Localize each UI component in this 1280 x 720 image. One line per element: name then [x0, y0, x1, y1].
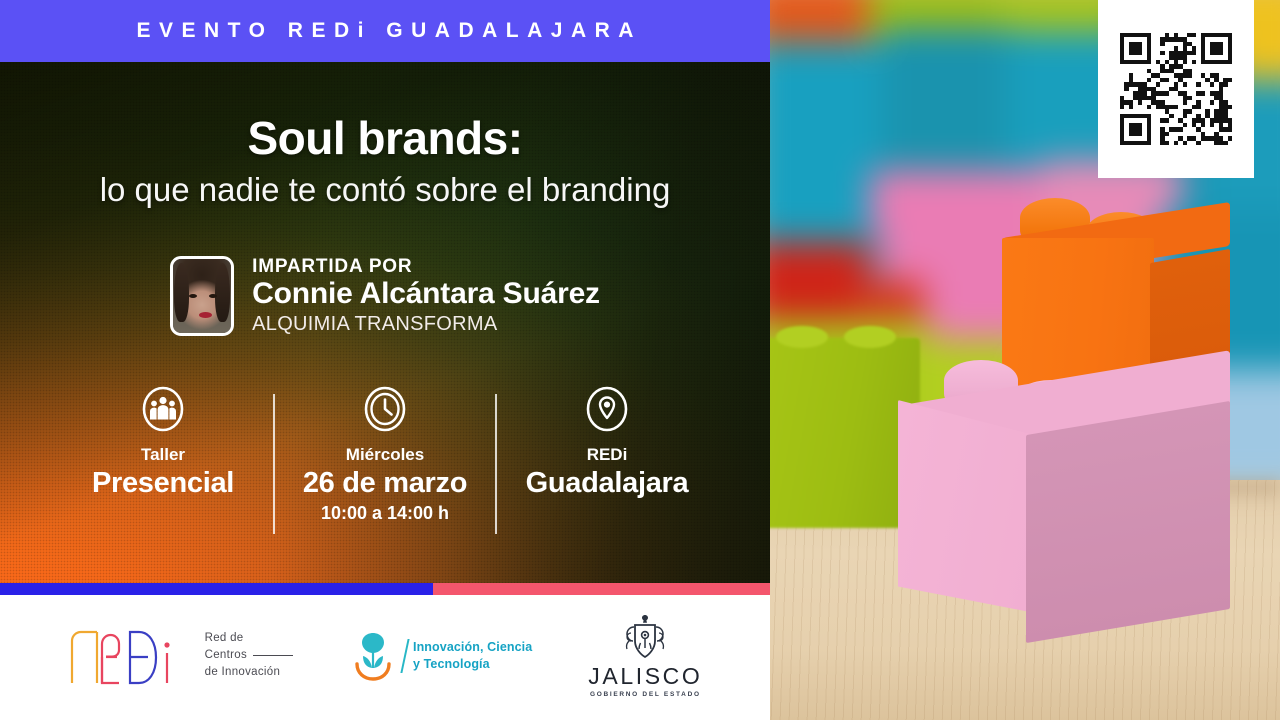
- jalisco-logo: JALISCO GOBIERNO DEL ESTADO: [588, 613, 702, 699]
- info-column-location: REDi Guadalajara: [497, 386, 717, 504]
- redi-line-1: Red de: [205, 630, 293, 647]
- avatar-hair-left: [174, 263, 189, 322]
- info-extra: 10:00 a 14:00 h: [321, 504, 449, 524]
- redi-rule: [253, 655, 293, 657]
- jalisco-coat-of-arms-icon: [615, 613, 675, 663]
- qr-code-card[interactable]: [1098, 0, 1254, 178]
- hero-section: Soul brands: lo que nadie te contó sobre…: [0, 62, 770, 583]
- info-label: REDi: [587, 446, 628, 465]
- people-group-icon: [141, 386, 185, 432]
- jalisco-wordmark: JALISCO: [588, 665, 702, 688]
- innovacion-ciencia-tecnologia-logo: Innovación, Ciencia y Tecnología: [349, 630, 532, 682]
- redi-logo-text: Red de Centros de Innovación: [205, 630, 293, 680]
- pink-brick-front: [898, 400, 1030, 612]
- info-column-modality: Taller Presencial: [53, 386, 273, 504]
- speaker-organization: ALQUIMIA TRANSFORMA: [252, 312, 600, 336]
- avatar: [170, 256, 234, 336]
- event-band-text: EVENTO REDi GUADALAJARA: [128, 19, 642, 43]
- page-subtitle: lo que nadie te contó sobre el branding: [100, 173, 671, 208]
- ict-divider-slash: [400, 639, 409, 673]
- info-label: Miércoles: [346, 446, 424, 465]
- pink-lego-brick: [898, 360, 1230, 628]
- info-value: Presencial: [92, 467, 234, 499]
- lego-bricks-photo: [770, 0, 1280, 720]
- info-column-date: Miércoles 26 de marzo 10:00 a 14:00 h: [275, 386, 495, 524]
- ict-logo-text: Innovación, Ciencia y Tecnología: [413, 639, 532, 672]
- photo-canvas: [770, 0, 1280, 720]
- clock-icon: [363, 386, 407, 432]
- speaker-name: Connie Alcántara Suárez: [252, 277, 600, 311]
- qr-code[interactable]: [1120, 33, 1232, 145]
- accent-bar-blue: [0, 583, 433, 595]
- ict-line-1: Innovación, Ciencia: [413, 639, 532, 655]
- speaker-block: IMPARTIDA POR Connie Alcántara Suárez AL…: [170, 256, 600, 336]
- redi-line-3: de Innovación: [205, 664, 293, 681]
- redi-logo: Red de Centros de Innovación: [68, 627, 293, 685]
- info-value: 26 de marzo: [303, 467, 467, 499]
- avatar-lips: [199, 312, 212, 318]
- ict-logo-mark: [349, 630, 397, 682]
- avatar-hair-right: [215, 263, 230, 322]
- page-title: Soul brands:: [247, 115, 522, 161]
- accent-bar: [0, 583, 770, 595]
- jalisco-subtitle: GOBIERNO DEL ESTADO: [590, 692, 701, 699]
- avatar-eye-right: [209, 294, 217, 298]
- location-pin-icon: [585, 386, 629, 432]
- poster-left-panel: EVENTO REDi GUADALAJARA Soul brands: lo …: [0, 0, 770, 720]
- info-value: Guadalajara: [526, 467, 689, 499]
- info-row: Taller Presencial: [53, 386, 717, 534]
- speaker-kicker: IMPARTIDA POR: [252, 256, 600, 278]
- avatar-eye-left: [189, 294, 197, 298]
- accent-bar-pink: [433, 583, 770, 595]
- event-poster: EVENTO REDi GUADALAJARA Soul brands: lo …: [0, 0, 1280, 720]
- info-label: Taller: [141, 446, 185, 465]
- redi-line-2: Centros: [205, 647, 247, 664]
- redi-logo-mark: [68, 627, 196, 685]
- ict-line-2: y Tecnología: [413, 656, 532, 672]
- footer-logo-bar: Red de Centros de Innovación: [0, 595, 770, 720]
- event-band: EVENTO REDi GUADALAJARA: [0, 0, 770, 62]
- pink-brick-side: [1026, 401, 1230, 643]
